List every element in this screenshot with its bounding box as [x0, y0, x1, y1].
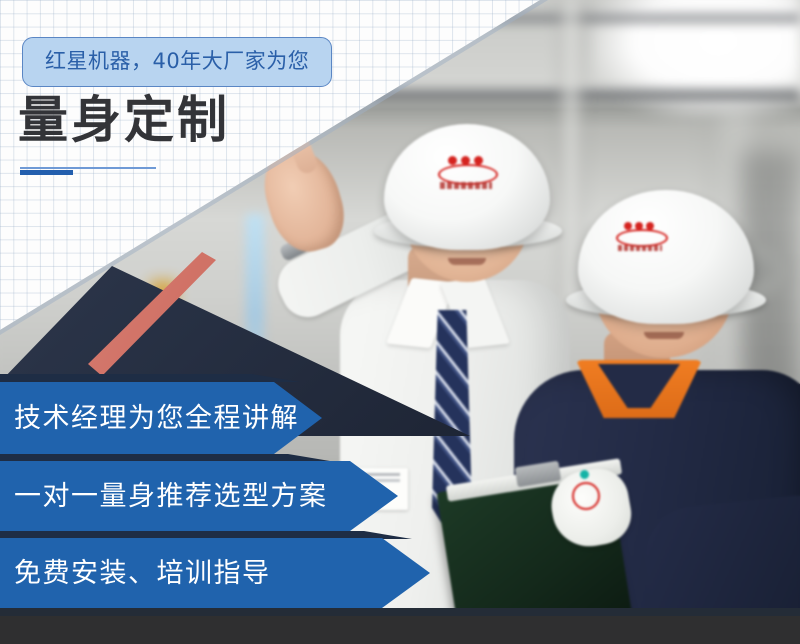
feature-bar-gap-top: [0, 374, 300, 382]
feature-bar-2[interactable]: 一对一量身推荐选型方案: [0, 461, 398, 531]
feature-bar-group: 技术经理为您全程讲解 一对一量身推荐选型方案 免费安装、培训指导: [0, 0, 800, 644]
feature-bar-3[interactable]: 免费安装、培训指导: [0, 538, 430, 608]
feature-bar-1-label: 技术经理为您全程讲解: [0, 405, 299, 432]
feature-bar-1[interactable]: 技术经理为您全程讲解: [0, 382, 322, 454]
promo-banner: 红星机器，40年大厂家为您 量身定制 技术经理为您全程讲解 一对一量身推荐选型方…: [0, 0, 800, 644]
feature-bar-gap-1: [0, 454, 336, 462]
feature-bar-2-label: 一对一量身推荐选型方案: [0, 483, 328, 510]
feature-bar-gap-2: [0, 531, 412, 539]
bottom-dark-strip: [0, 608, 800, 644]
feature-bar-3-label: 免费安装、培训指导: [0, 560, 271, 587]
